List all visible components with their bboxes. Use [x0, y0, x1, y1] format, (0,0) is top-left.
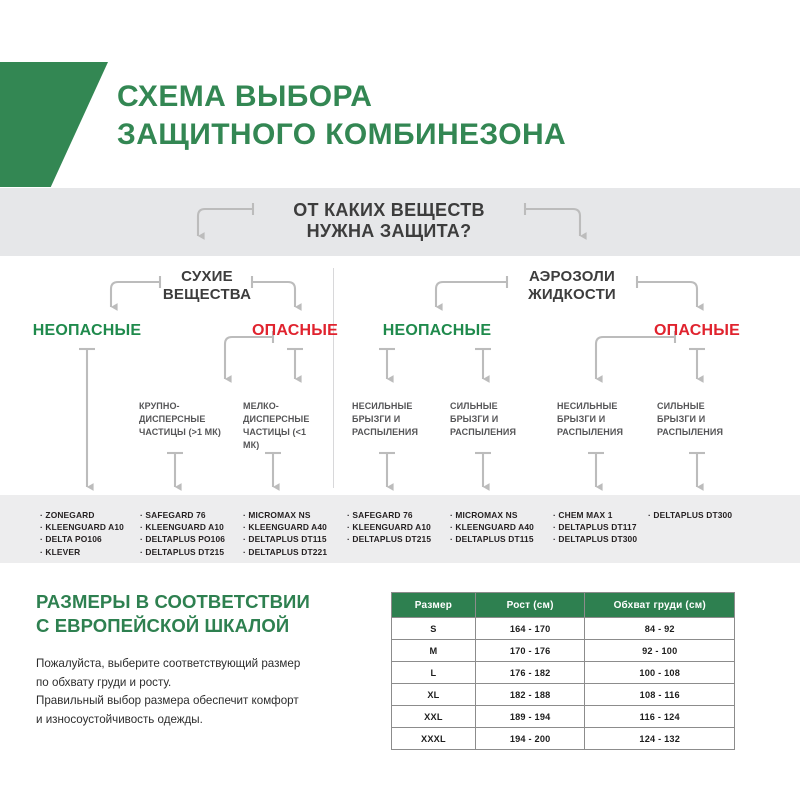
- height-cell: 182 - 188: [475, 684, 585, 706]
- sizes-para-line1: Пожалуйста, выберите соответствующий раз…: [36, 655, 366, 674]
- size-cell: XXXL: [392, 728, 476, 750]
- table-row: XXXL 194 - 200 124 - 132: [392, 728, 735, 750]
- product-item: KLEENGUARD A40: [450, 521, 534, 533]
- size-table-header-row: Размер Рост (см) Обхват груди (см): [392, 593, 735, 618]
- desc-danger-weak-line2: БРЫЗГИ И: [557, 414, 605, 424]
- page-title-line2: ЗАЩИТНОГО КОМБИНЕЗОНА: [117, 116, 737, 154]
- product-item: MICROMAX NS: [243, 509, 327, 521]
- product-item: CHEM MAX 1: [553, 509, 637, 521]
- product-column-5: MICROMAX NS KLEENGUARD A40 DELTAPLUS DT1…: [450, 509, 534, 546]
- height-cell: 170 - 176: [475, 640, 585, 662]
- size-table-header-cell: Обхват груди (см): [585, 593, 735, 618]
- product-item: KLEVER: [40, 546, 124, 558]
- product-item: KLEENGUARD A10: [40, 521, 124, 533]
- sizes-description: Пожалуйста, выберите соответствующий раз…: [36, 655, 366, 729]
- desc-safe-strong-line3: РАСПЫЛЕНИЯ: [450, 427, 516, 437]
- desc-danger-weak-line3: РАСПЫЛЕНИЯ: [557, 427, 623, 437]
- product-item: DELTAPLUS PO106: [140, 533, 225, 545]
- desc-fine-particles: МЕЛКО- ДИСПЕРСНЫЕ ЧАСТИЦЫ (<1 МК): [243, 400, 315, 452]
- size-table-header-cell: Размер: [392, 593, 476, 618]
- table-row: M 170 - 176 92 - 100: [392, 640, 735, 662]
- product-item: KLEENGUARD A10: [347, 521, 431, 533]
- flow-aerosols-liquids-label: АЭРОЗОЛИ ЖИДКОСТИ: [509, 268, 635, 303]
- branch-divider: [333, 268, 334, 488]
- desc-fine-line3: ЧАСТИЦЫ (<1: [243, 427, 306, 437]
- table-row: L 176 - 182 100 - 108: [392, 662, 735, 684]
- sizes-para-line2: по обхвату груди и росту.: [36, 674, 366, 693]
- product-column-2: SAFEGARD 76 KLEENGUARD A10 DELTAPLUS PO1…: [140, 509, 225, 558]
- desc-coarse-line3: ЧАСТИЦЫ (>1 МК): [139, 427, 221, 437]
- desc-fine-line2: ДИСПЕРСНЫЕ: [243, 414, 309, 424]
- desc-safe-weak-line3: РАСПЫЛЕНИЯ: [352, 427, 418, 437]
- size-cell: XXL: [392, 706, 476, 728]
- page-title-line1: СХЕМА ВЫБОРА: [117, 78, 737, 116]
- desc-safe-weak-splash: НЕСИЛЬНЫЕ БРЫЗГИ И РАСПЫЛЕНИЯ: [352, 400, 434, 439]
- table-row: XL 182 - 188 108 - 116: [392, 684, 735, 706]
- chest-cell: 116 - 124: [585, 706, 735, 728]
- chest-cell: 124 - 132: [585, 728, 735, 750]
- page-title: СХЕМА ВЫБОРА ЗАЩИТНОГО КОМБИНЕЗОНА: [117, 78, 737, 154]
- flow-dry-safe-label: НЕОПАСНЫЕ: [17, 322, 157, 341]
- table-row: XXL 189 - 194 116 - 124: [392, 706, 735, 728]
- product-item: DELTAPLUS DT115: [243, 533, 327, 545]
- flow-question: ОТ КАКИХ ВЕЩЕСТВ НУЖНА ЗАЩИТА?: [260, 200, 518, 242]
- sizes-title: РАЗМЕРЫ В СООТВЕТСТВИИ С ЕВРОПЕЙСКОЙ ШКА…: [36, 590, 376, 638]
- sizes-title-line2: С ЕВРОПЕЙСКОЙ ШКАЛОЙ: [36, 614, 376, 638]
- size-table: Размер Рост (см) Обхват груди (см) S 164…: [391, 592, 735, 750]
- product-item: KLEENGUARD A10: [140, 521, 225, 533]
- size-cell: S: [392, 618, 476, 640]
- product-item: SAFEGARD 76: [347, 509, 431, 521]
- desc-danger-strong-line2: БРЫЗГИ И: [657, 414, 705, 424]
- product-item: MICROMAX NS: [450, 509, 534, 521]
- header-green-wedge: [0, 62, 108, 187]
- size-cell: M: [392, 640, 476, 662]
- aerosol-label-line1: АЭРОЗОЛИ: [529, 268, 615, 285]
- product-item: DELTAPLUS DT221: [243, 546, 327, 558]
- sizes-title-line1: РАЗМЕРЫ В СООТВЕТСТВИИ: [36, 590, 376, 614]
- dry-label-line1: СУХИЕ: [181, 268, 233, 285]
- desc-danger-weak-line1: НЕСИЛЬНЫЕ: [557, 401, 617, 411]
- size-cell: L: [392, 662, 476, 684]
- desc-coarse-particles: КРУПНО- ДИСПЕРСНЫЕ ЧАСТИЦЫ (>1 МК): [139, 400, 235, 439]
- product-item: KLEENGUARD A40: [243, 521, 327, 533]
- size-table-header-cell: Рост (см): [475, 593, 585, 618]
- desc-safe-strong-splash: СИЛЬНЫЕ БРЫЗГИ И РАСПЫЛЕНИЯ: [450, 400, 532, 439]
- flow-dry-danger-label: ОПАСНЫЕ: [235, 322, 355, 341]
- height-cell: 176 - 182: [475, 662, 585, 684]
- flow-question-line1: ОТ КАКИХ ВЕЩЕСТВ: [293, 200, 485, 220]
- product-item: DELTAPLUS DT300: [648, 509, 732, 521]
- height-cell: 164 - 170: [475, 618, 585, 640]
- desc-danger-strong-line1: СИЛЬНЫЕ: [657, 401, 705, 411]
- product-item: SAFEGARD 76: [140, 509, 225, 521]
- height-cell: 189 - 194: [475, 706, 585, 728]
- desc-danger-strong-splash: СИЛЬНЫЕ БРЫЗГИ И РАСПЫЛЕНИЯ: [657, 400, 739, 439]
- product-item: DELTAPLUS DT117: [553, 521, 637, 533]
- chest-cell: 100 - 108: [585, 662, 735, 684]
- dry-label-line2: ВЕЩЕСТВА: [163, 286, 251, 303]
- flow-aerosol-safe-label: НЕОПАСНЫЕ: [367, 322, 507, 341]
- product-item: DELTAPLUS DT300: [553, 533, 637, 545]
- product-item: DELTA PO106: [40, 533, 124, 545]
- product-item: DELTAPLUS DT215: [347, 533, 431, 545]
- desc-safe-weak-line2: БРЫЗГИ И: [352, 414, 400, 424]
- product-column-6: CHEM MAX 1 DELTAPLUS DT117 DELTAPLUS DT3…: [553, 509, 637, 546]
- desc-safe-strong-line1: СИЛЬНЫЕ: [450, 401, 498, 411]
- desc-coarse-line1: КРУПНО-: [139, 401, 180, 411]
- product-item: DELTAPLUS DT215: [140, 546, 225, 558]
- product-item: ZONEGARD: [40, 509, 124, 521]
- desc-danger-strong-line3: РАСПЫЛЕНИЯ: [657, 427, 723, 437]
- table-row: S 164 - 170 84 - 92: [392, 618, 735, 640]
- infographic-page: СХЕМА ВЫБОРА ЗАЩИТНОГО КОМБИНЕЗОНА: [0, 0, 800, 800]
- aerosol-label-line2: ЖИДКОСТИ: [528, 286, 616, 303]
- product-column-4: SAFEGARD 76 KLEENGUARD A10 DELTAPLUS DT2…: [347, 509, 431, 546]
- product-column-7: DELTAPLUS DT300: [648, 509, 732, 521]
- desc-safe-weak-line1: НЕСИЛЬНЫЕ: [352, 401, 412, 411]
- desc-fine-line1: МЕЛКО-: [243, 401, 279, 411]
- size-cell: XL: [392, 684, 476, 706]
- desc-danger-weak-splash: НЕСИЛЬНЫЕ БРЫЗГИ И РАСПЫЛЕНИЯ: [557, 400, 639, 439]
- desc-coarse-line2: ДИСПЕРСНЫЕ: [139, 414, 205, 424]
- sizes-para-line3: Правильный выбор размера обеспечит комфо…: [36, 692, 366, 711]
- chest-cell: 84 - 92: [585, 618, 735, 640]
- sizes-para-line4: и износоустойчивость одежды.: [36, 711, 366, 730]
- desc-fine-line4: МК): [243, 440, 259, 450]
- chest-cell: 92 - 100: [585, 640, 735, 662]
- flow-aerosol-danger-label: ОПАСНЫЕ: [637, 322, 757, 341]
- product-column-1: ZONEGARD KLEENGUARD A10 DELTA PO106 KLEV…: [40, 509, 124, 558]
- height-cell: 194 - 200: [475, 728, 585, 750]
- desc-safe-strong-line2: БРЫЗГИ И: [450, 414, 498, 424]
- product-column-3: MICROMAX NS KLEENGUARD A40 DELTAPLUS DT1…: [243, 509, 327, 558]
- flow-question-line2: НУЖНА ЗАЩИТА?: [307, 221, 472, 241]
- chest-cell: 108 - 116: [585, 684, 735, 706]
- product-item: DELTAPLUS DT115: [450, 533, 534, 545]
- flow-dry-substances-label: СУХИЕ ВЕЩЕСТВА: [162, 268, 252, 303]
